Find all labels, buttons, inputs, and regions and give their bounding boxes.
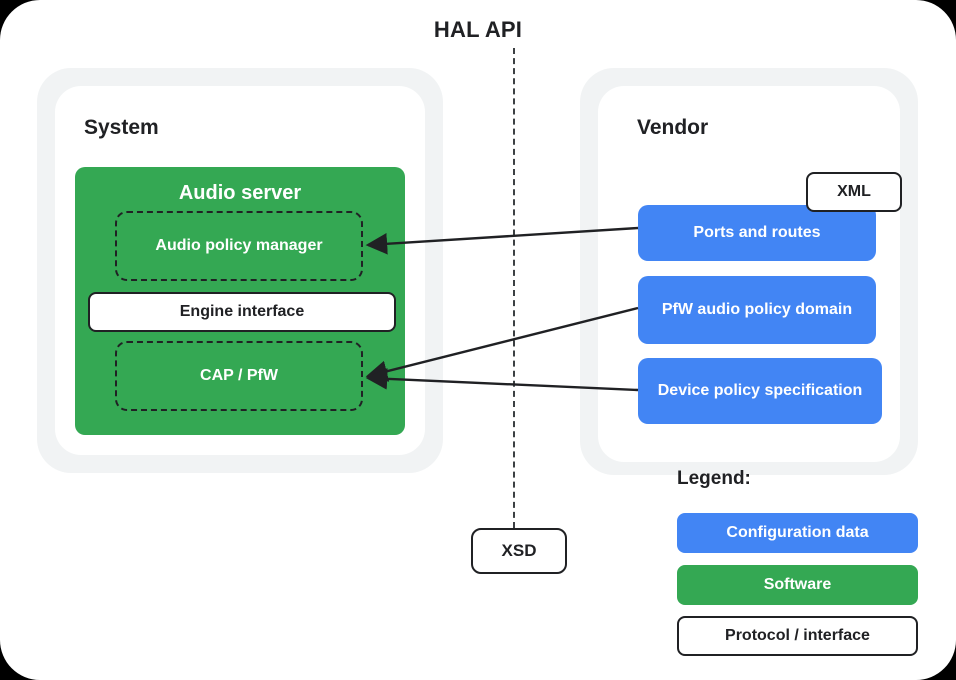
legend-title: Legend: [677, 468, 751, 490]
diagram-canvas: HAL API System Audio server Audio policy… [0, 0, 956, 680]
audio-server-label: Audio server [75, 182, 405, 205]
engine-interface-box: Engine interface [88, 292, 396, 332]
legend-item-protocol-interface: Protocol / interface [677, 616, 918, 656]
legend-item-configuration-data: Configuration data [677, 513, 918, 553]
audio-policy-manager-box: Audio policy manager [115, 211, 363, 281]
legend-item-software: Software [677, 565, 918, 605]
pfw-audio-policy-domain-box: PfW audio policy domain [638, 276, 876, 344]
device-policy-specification-box: Device policy specification [638, 358, 882, 424]
vendor-title: Vendor [637, 116, 708, 140]
hal-api-title: HAL API [0, 17, 956, 43]
xml-badge: XML [806, 172, 902, 212]
xsd-badge: XSD [471, 528, 567, 574]
ports-and-routes-box: Ports and routes [638, 205, 876, 261]
cap-pfw-box: CAP / PfW [115, 341, 363, 411]
hal-api-divider-line [513, 48, 515, 528]
system-title: System [84, 116, 159, 140]
